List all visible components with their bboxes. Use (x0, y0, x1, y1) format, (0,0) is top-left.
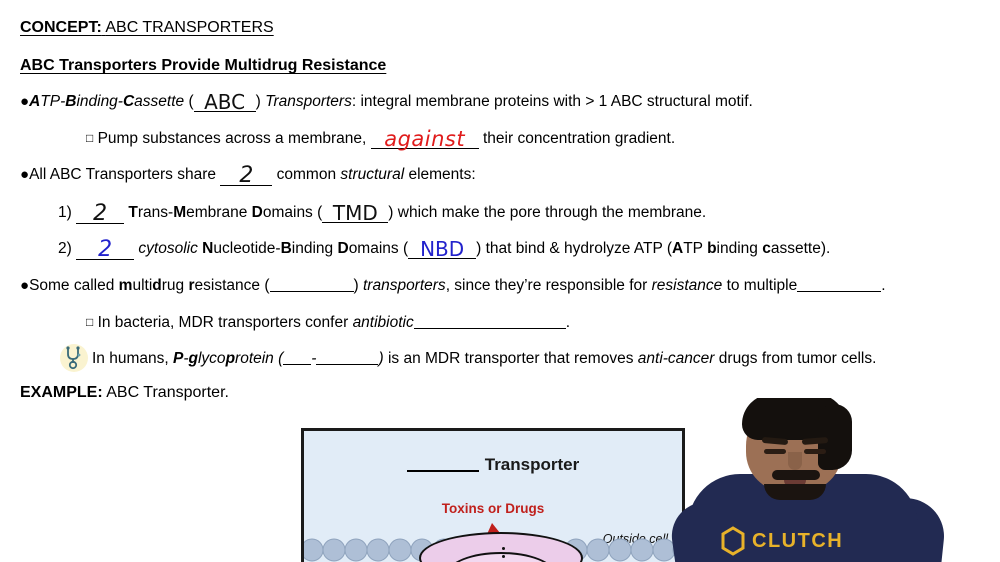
blank-diagram-transporter (407, 470, 479, 472)
example-label: EXAMPLE: (20, 384, 103, 401)
diagram-title: Transporter (304, 455, 682, 475)
bacteria-italic-antibiotic: antibiotic (353, 314, 414, 331)
mdr-post-text: to multiple (727, 277, 798, 294)
nose (788, 452, 802, 470)
term-c-rest: assette (134, 93, 184, 110)
paren-close: ) (388, 204, 393, 221)
tmd-d: D (252, 204, 263, 221)
pgp-p2-rest: rotein (235, 350, 274, 367)
bullet-marker: ● (20, 166, 29, 183)
bacteria-pre-text: In bacteria, MDR transporters confer (98, 314, 349, 331)
nbd-d-rest: omains (349, 240, 399, 257)
example-line: EXAMPLE: ABC Transporter. (20, 385, 229, 401)
pump-post-text: their concentration gradient. (483, 130, 675, 147)
pump-pre-text: Pump substances across a membrane, (98, 130, 367, 147)
diagram-title-suffix: Transporter (485, 455, 579, 474)
blank-mdr-abbrev (270, 291, 354, 292)
mdr-d-rest: rug (162, 277, 184, 294)
section-subheading: ABC Transporters Provide Multidrug Resis… (20, 58, 386, 74)
concept-label: CONCEPT: (20, 19, 102, 36)
beard (764, 484, 826, 500)
nbd-n-rest: ucleotide- (213, 240, 280, 257)
subbullet-humans-pglycoprotein: In humans, P-glycoprotein (-) is an MDR … (92, 351, 876, 367)
atp-a-rest: TP (683, 240, 703, 257)
term-a: A (29, 93, 40, 110)
handwritten-answer-two-nbd: 2 (76, 241, 134, 260)
atp-c-rest: assette (771, 240, 821, 257)
moustache (772, 470, 820, 480)
handwritten-answer-against: against (371, 130, 479, 149)
mdr-m: m (119, 277, 133, 294)
mdr-r-rest: esistance (195, 277, 260, 294)
term-a-rest: TP- (40, 93, 65, 110)
concept-header: CONCEPT: ABC TRANSPORTERS (20, 20, 274, 36)
pgp-g-rest: lyco (198, 350, 226, 367)
paren-close: ) (354, 277, 359, 294)
bullet-share-elements: ●All ABC Transporters share 2 common str… (20, 167, 476, 186)
tmd-t: T (128, 204, 137, 221)
example-text: ABC Transporter. (106, 384, 229, 401)
mdr-mid-text: , since they’re responsible for (446, 277, 648, 294)
bullet-mdr-transporters: ●Some called multidrug resistance () tra… (20, 278, 886, 294)
paren-close: ) (378, 350, 383, 367)
abc-transporter-diagram: Transporter Toxins or Drugs Outside cell (301, 428, 685, 562)
nbd-b: B (281, 240, 292, 257)
humans-italic-anticancer: anti-cancer (638, 350, 715, 367)
bullet-marker: ● (20, 93, 29, 110)
handwritten-answer-two: 2 (220, 167, 272, 186)
nbd-rest-post: ). (821, 240, 830, 257)
shirt-brand-text: CLUTCH (752, 530, 843, 553)
term-transporters: Transporters (265, 93, 352, 110)
tmd-m: M (173, 204, 186, 221)
mdr-italic-transporters: transporters (363, 277, 446, 294)
term-b-rest: inding- (76, 93, 123, 110)
share-pre-text: All ABC Transporters share (29, 166, 216, 183)
item-number: 1) (58, 204, 72, 221)
paren-close: ) (256, 93, 261, 110)
bullet-marker: ● (20, 277, 29, 294)
share-post-text: elements: (408, 166, 475, 183)
lecture-slide: CONCEPT: ABC TRANSPORTERS ABC Transporte… (0, 0, 1000, 562)
paren-close: ) (476, 240, 481, 257)
handwritten-answer-two-tmd: 2 (76, 205, 124, 224)
nbd-d: D (337, 240, 348, 257)
clutch-logo-icon (720, 526, 746, 556)
term-b: B (65, 93, 76, 110)
handwritten-answer-abc: ABC (194, 93, 256, 112)
pgp-g: g (189, 350, 198, 367)
eye-left (764, 449, 786, 454)
numbered-item-nbd: 2) 2 cytosolic Nucleotide-Binding Domain… (58, 240, 830, 260)
instructor-video: CLUTCH (668, 398, 1000, 562)
subbullet-bacteria-antibiotic: □ In bacteria, MDR transporters confer a… (86, 315, 570, 331)
humans-pre-text: In humans, (92, 350, 169, 367)
nbd-n: N (202, 240, 213, 257)
square-marker: □ (86, 131, 93, 145)
share-mid-text: common (277, 166, 336, 183)
blank-antibiotic-resistance (414, 328, 566, 329)
eye-right (804, 449, 826, 454)
tmd-d-rest: omains (263, 204, 313, 221)
tmd-t-rest: rans- (138, 204, 173, 221)
tmd-m-rest: embrane (186, 204, 247, 221)
humans-post-text: drugs from tumor cells. (719, 350, 877, 367)
toxins-or-drugs-label: Toxins or Drugs (304, 501, 682, 516)
substrate-dots (502, 555, 505, 558)
pgp-p2: p (226, 350, 235, 367)
mdr-pre-text: Some called (29, 277, 114, 294)
atp-c: c (762, 240, 771, 257)
atp-b-rest: inding (717, 240, 758, 257)
nbd-b-rest: inding (292, 240, 333, 257)
atp-b: b (707, 240, 716, 257)
share-italic-structural: structural (340, 166, 404, 183)
bullet-atp-binding-cassette: ●ATP-Binding-Cassette (ABC) Transporters… (20, 93, 753, 112)
nbd-italic-cytosolic: cytosolic (138, 240, 197, 257)
blank-pgp-number (316, 364, 378, 365)
stethoscope-icon (60, 344, 88, 372)
mdr-m-rest: ulti (132, 277, 152, 294)
mdr-end: . (881, 277, 885, 294)
term-c: C (123, 93, 134, 110)
atp-rest-text: : integral membrane proteins with > 1 AB… (352, 93, 753, 110)
numbered-item-tmd: 1) 2 Trans-Membrane Domains (TMD) which … (58, 204, 706, 224)
handwritten-abbrev-tmd: TMD (322, 204, 388, 223)
atp-a: A (672, 240, 683, 257)
tmd-rest-text: which make the pore through the membrane… (398, 204, 706, 221)
concept-topic: ABC TRANSPORTERS (105, 19, 273, 36)
subbullet-pump-substances: □ Pump substances across a membrane, aga… (86, 130, 675, 149)
mdr-italic-resistance: resistance (652, 277, 723, 294)
handwritten-abbrev-nbd: NBD (408, 240, 476, 259)
mdr-d: d (152, 277, 161, 294)
nbd-rest-pre: that bind & hydrolyze ATP ( (486, 240, 672, 257)
square-marker: □ (86, 315, 93, 329)
humans-mid-text: is an MDR transporter that removes (388, 350, 634, 367)
blank-mdr-multiple (797, 291, 881, 292)
bacteria-end: . (566, 314, 570, 331)
pgp-p: P (173, 350, 183, 367)
blank-pgp-letter (283, 364, 311, 365)
item-number: 2) (58, 240, 72, 257)
